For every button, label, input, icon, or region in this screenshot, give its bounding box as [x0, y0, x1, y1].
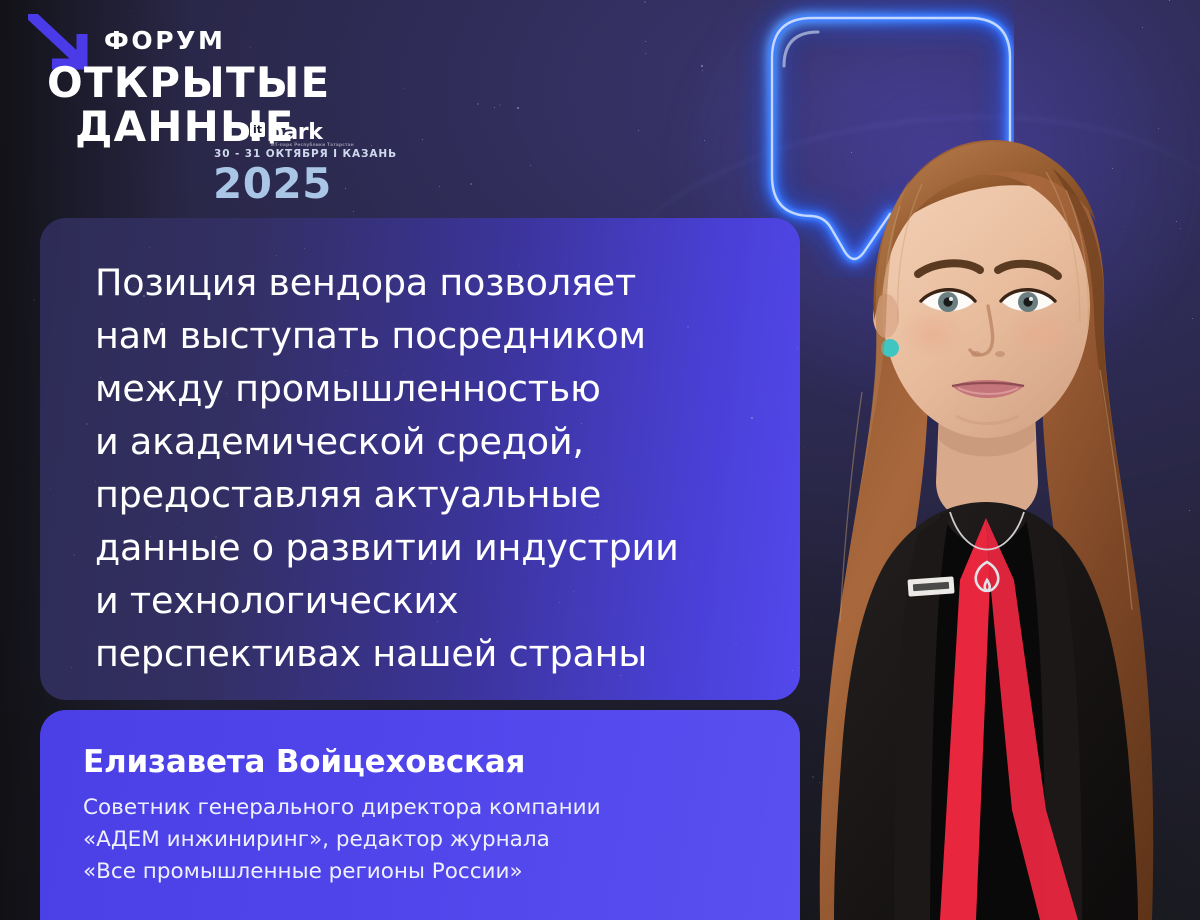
quote-line: предоставляя актуальные [95, 468, 780, 521]
speaker-portrait [790, 110, 1200, 920]
speaker-role: Советник генерального директора компании… [83, 792, 601, 888]
speaker-role-line: «АДЕМ инжиниринг», редактор журнала [83, 824, 601, 856]
quote-line: и технологических [95, 574, 780, 627]
quote-line: перспективах нашей страны [95, 627, 780, 680]
speaker-role-line: «Все промышленные регионы России» [83, 856, 601, 888]
poster-stage: ФОРУМ ОТКРЫТЫЕ ДАННЫЕ it park ИТ-парк Ре… [0, 0, 1200, 920]
speaker-role-line: Советник генерального директора компании [83, 792, 601, 824]
quote-line: данные о развитии индустрии [95, 521, 780, 574]
speaker-name: Елизавета Войцеховская [83, 744, 525, 780]
event-year: 2025 [213, 159, 332, 208]
quote-line: Позиция вендора позволяет [95, 256, 780, 309]
itpark-subtitle: ИТ-парк Республики Татарстан [271, 142, 354, 147]
forum-logo-lockup: ФОРУМ ОТКРЫТЫЕ ДАННЫЕ it park ИТ-парк Ре… [0, 0, 420, 215]
itpark-mark: it [250, 122, 265, 137]
forum-title-line-1: ОТКРЫТЫЕ [47, 58, 330, 107]
quote-line: и академической средой, [95, 415, 780, 468]
speaker-card: Елизавета Войцеховская Советник генераль… [40, 710, 800, 920]
badge-pin [907, 576, 954, 596]
forum-kicker: ФОРУМ [104, 26, 226, 55]
quote-line: между промышленностью [95, 362, 780, 415]
quote-line: нам выступать посредником [95, 309, 780, 362]
quote-text: Позиция вендора позволяет нам выступать … [95, 256, 780, 680]
quote-card: Позиция вендора позволяет нам выступать … [40, 218, 800, 700]
